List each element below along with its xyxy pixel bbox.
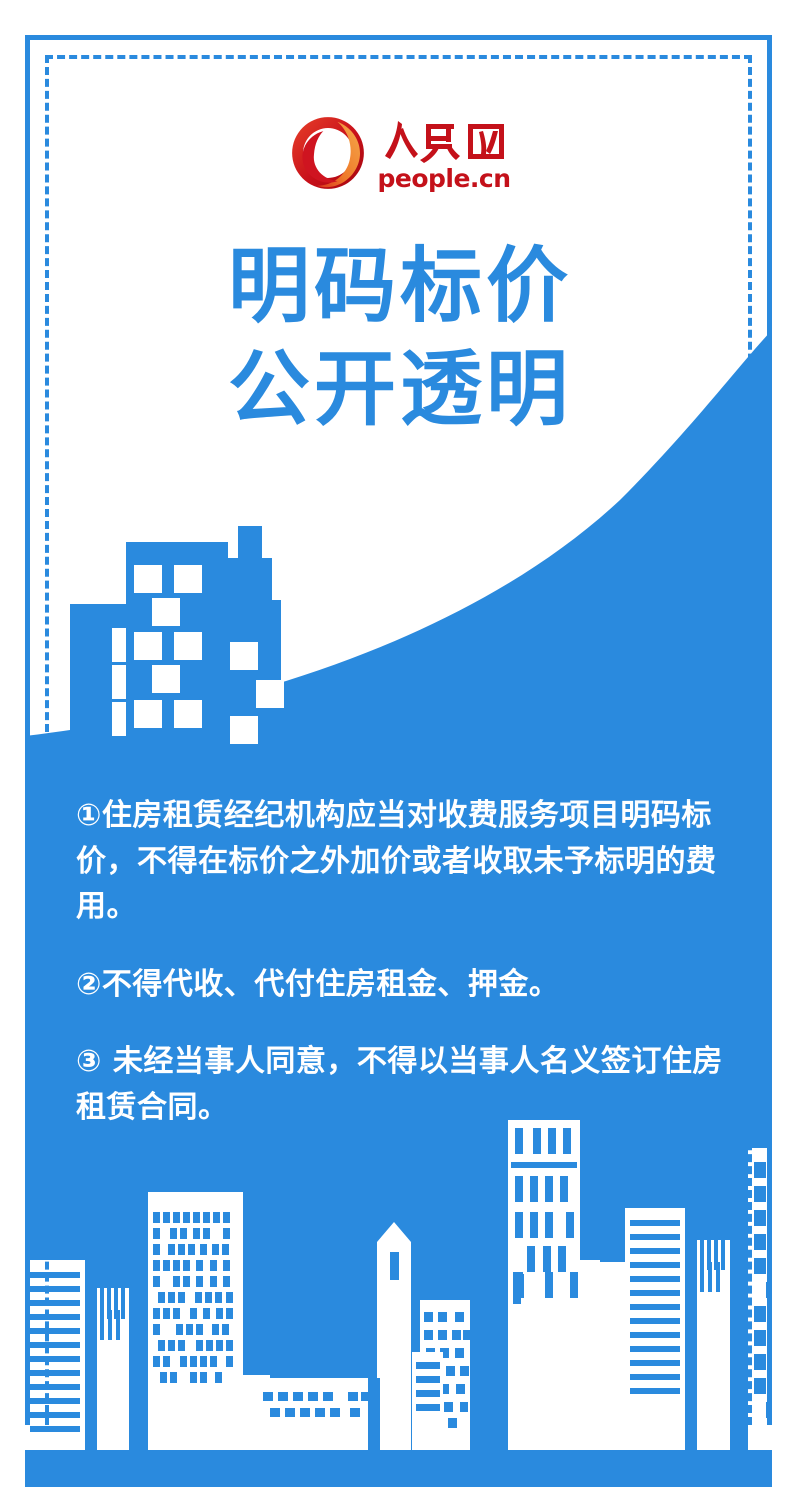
body-item-3: ③ 未经当事人同意，不得以当事人名义签订住房租赁合同。 [76,1039,724,1130]
headline-line-1: 明码标价 [0,236,800,339]
people-daily-online-logo-icon [289,114,367,192]
renminwang-wordmark-icon [380,116,508,164]
poster-body-copy: ①住房租赁经纪机构应当对收费服务项目明码标价，不得在标价之外加价或者收取未予标明… [76,793,724,1131]
poster-background-art [0,0,800,1487]
body-item-1: ①住房租赁经纪机构应当对收费服务项目明码标价，不得在标价之外加价或者收取未予标明… [76,793,724,930]
logo-latin-text: people.cn [377,166,510,191]
logo-wordmark: people.cn [377,116,510,191]
body-item-2: ②不得代收、代付住房租金、押金。 [76,962,724,1008]
headline-line-2: 公开透明 [0,339,800,442]
top-skyline [70,526,284,746]
poster-root: people.cn 明码标价 公开透明 ①住房租赁经纪机构应当对收费服务项目明码… [0,0,800,1487]
brand-logo: people.cn [0,108,800,198]
poster-headline: 明码标价 公开透明 [0,236,800,441]
